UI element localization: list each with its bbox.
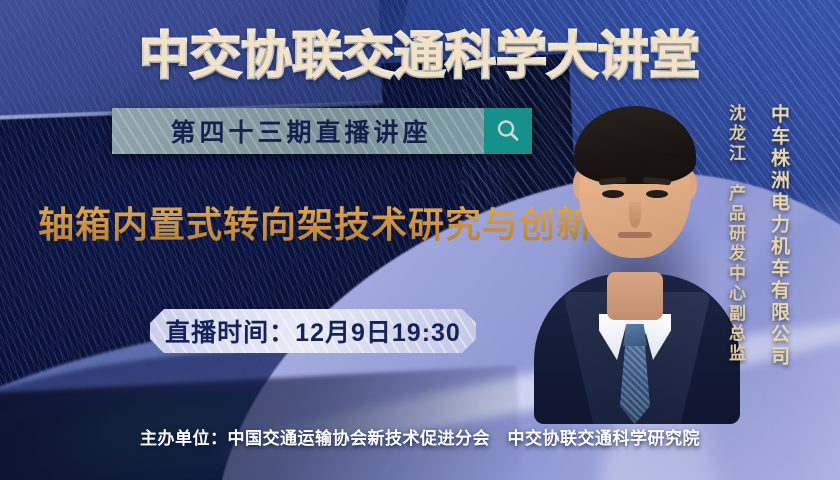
broadcast-time-text: 直播时间：12月9日19:30 (165, 313, 461, 349)
main-title-text: 中交协联交通科学大讲堂 (140, 28, 701, 84)
speaker-name-role: 沈龙江 产品研发中心副总监 (723, 104, 748, 364)
organizer-footer: 主办单位：中国交通运输协会新技术促进分会 中交协联交通科学研究院 (0, 424, 840, 449)
search-icon (495, 118, 521, 144)
lecture-title: 轴箱内置式转向架技术研究与创新 (38, 196, 593, 248)
portrait-eye-right (646, 190, 668, 198)
speaker-portrait (540, 104, 730, 424)
episode-banner-body: 第四十三期直播讲座 (112, 108, 484, 154)
speaker-company: 中车株洲电力机车有限公司 (765, 104, 792, 368)
episode-label: 第四十三期直播讲座 (170, 113, 431, 149)
portrait-hair (574, 106, 696, 184)
page-title: 中交协联交通科学大讲堂 (0, 16, 840, 88)
livestream-poster: 中交协联交通科学大讲堂 第四十三期直播讲座 轴箱内置式转向架技术研究与创新 直播… (0, 0, 840, 480)
search-icon-tile[interactable] (484, 108, 532, 154)
portrait-eye-left (602, 190, 624, 198)
broadcast-time-badge: 直播时间：12月9日19:30 (150, 309, 476, 353)
portrait-nose (629, 202, 641, 228)
portrait-neck (607, 272, 663, 320)
portrait-mouth (618, 232, 652, 238)
portrait-tie-knot (623, 324, 647, 346)
episode-banner: 第四十三期直播讲座 (112, 108, 532, 154)
